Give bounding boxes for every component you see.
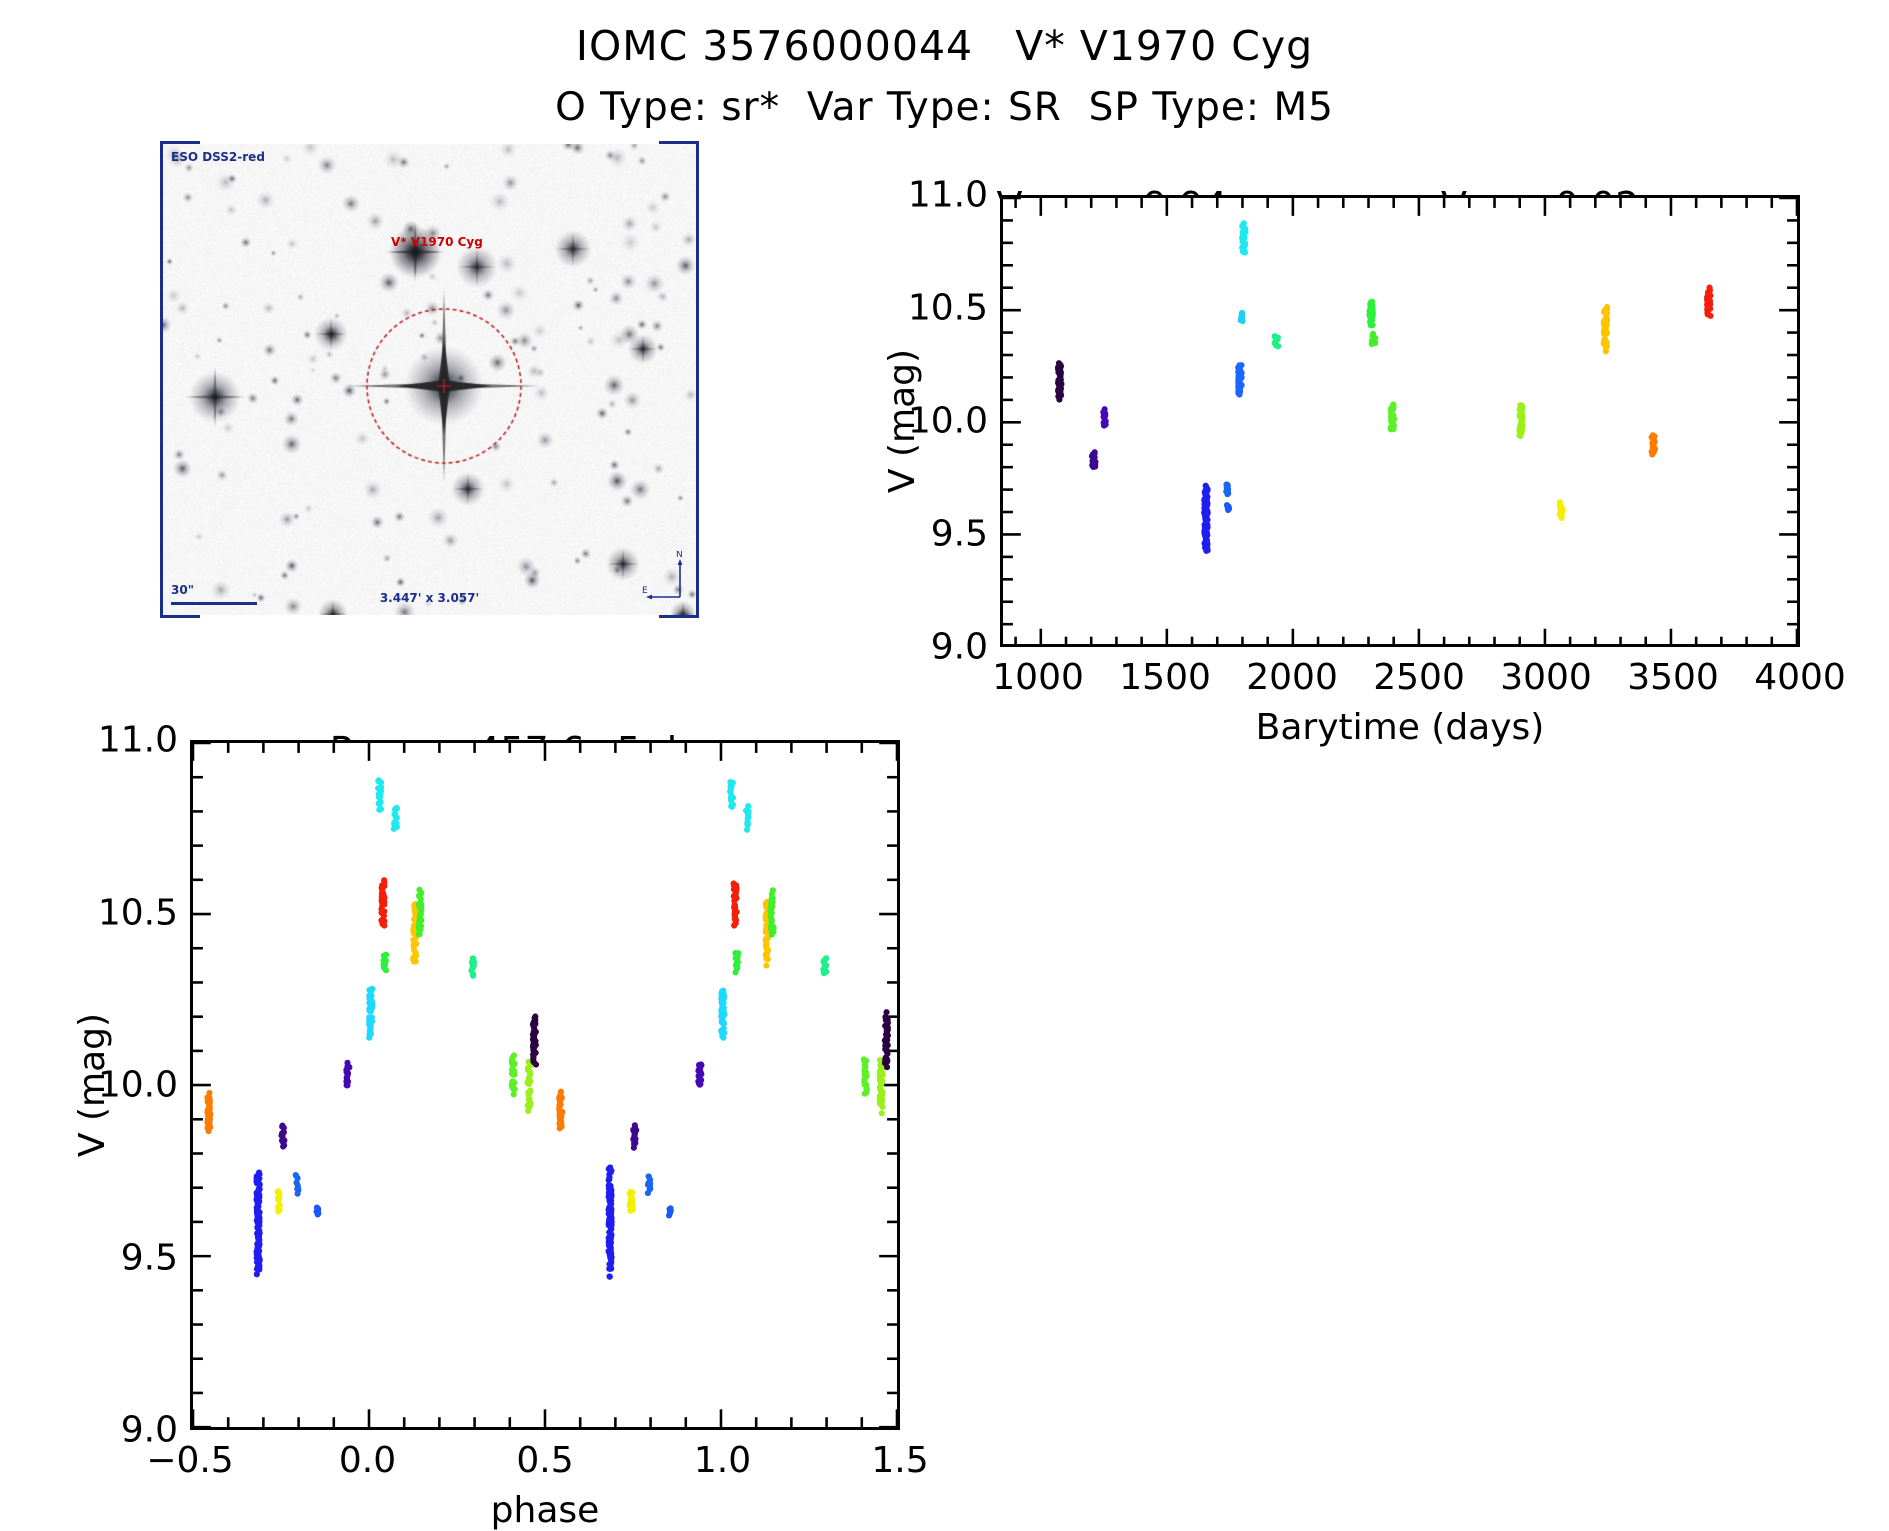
x-tick-label: 0.0 xyxy=(339,1440,396,1481)
survey-label: ESO DSS2-red xyxy=(171,150,265,164)
compass-rose-icon: N E xyxy=(642,551,690,605)
scale-bar-label: 30" xyxy=(171,583,194,597)
y-axis-title: V (mag) xyxy=(72,1013,113,1157)
svg-text:E: E xyxy=(642,586,648,596)
svg-text:N: N xyxy=(676,551,683,560)
page-title: IOMC 3576000044 V* V1970 Cyg xyxy=(0,22,1889,70)
y-axis-title: V (mag) xyxy=(882,349,923,493)
frame-corner-bottom-right xyxy=(659,615,699,618)
lightcurve-panel: Vmed = 9.94 mag <err_V> = 0.02 mag 10001… xyxy=(820,140,1840,700)
y-tick-label: 9.0 xyxy=(931,627,988,668)
y-tick-label: 11.0 xyxy=(908,175,988,216)
x-axis-title: phase xyxy=(491,1490,600,1531)
scale-bar xyxy=(171,602,257,605)
lightcurve-plot-area xyxy=(1000,195,1800,647)
finder-chart: ESO DSS2-red V* V1970 Cyg 30" 3.447' x 3… xyxy=(160,144,699,615)
lightcurve-data-layer xyxy=(1003,198,1797,647)
x-tick-label: 0.5 xyxy=(516,1440,573,1481)
x-axis-title: Barytime (days) xyxy=(1256,707,1545,748)
frame-corner-bottom-left xyxy=(160,615,200,618)
field-of-view-label: 3.447' x 3.057' xyxy=(380,591,479,605)
phase-panel: POMC = 457.6±5 days −0.50.00.51.01.59.09… xyxy=(20,685,980,1475)
target-star-label: V* V1970 Cyg xyxy=(391,235,483,249)
x-tick-label: 1500 xyxy=(1119,657,1211,698)
x-tick-label: 3000 xyxy=(1500,657,1592,698)
x-tick-label: 1000 xyxy=(992,657,1084,698)
figure-page: IOMC 3576000044 V* V1970 Cyg O Type: sr*… xyxy=(0,0,1889,1494)
x-tick-label: 4000 xyxy=(1754,657,1846,698)
y-tick-label: 9.5 xyxy=(931,514,988,555)
x-tick-label: 1.0 xyxy=(694,1440,751,1481)
x-tick-label: 2000 xyxy=(1246,657,1338,698)
phase-plot-area xyxy=(190,740,900,1430)
y-tick-label: 10.5 xyxy=(908,288,988,329)
y-tick-label: 9.0 xyxy=(121,1410,178,1451)
x-tick-label: 2500 xyxy=(1373,657,1465,698)
sky-survey-image xyxy=(163,144,696,615)
page-subtitle: O Type: sr* Var Type: SR SP Type: M5 xyxy=(0,85,1889,130)
phase-data-layer xyxy=(193,743,897,1427)
y-tick-label: 9.5 xyxy=(121,1237,178,1278)
y-tick-label: 11.0 xyxy=(98,720,178,761)
y-tick-label: 10.5 xyxy=(98,892,178,933)
x-tick-label: 3500 xyxy=(1627,657,1719,698)
x-tick-label: 1.5 xyxy=(871,1440,928,1481)
